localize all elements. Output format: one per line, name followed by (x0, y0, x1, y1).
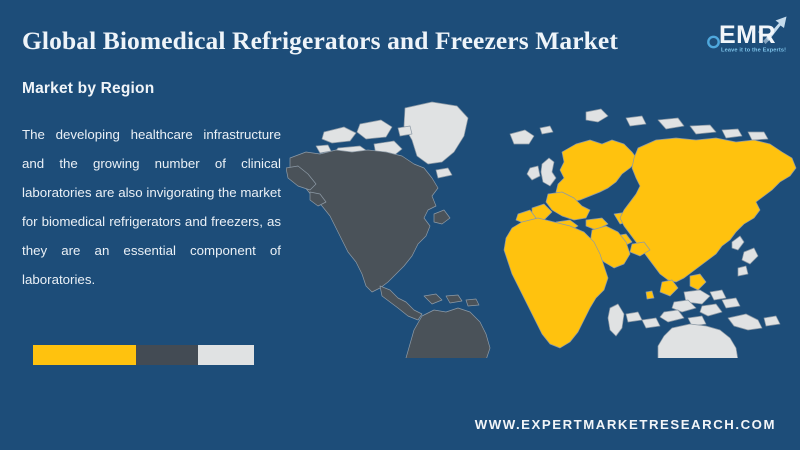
section-subtitle: Market by Region (22, 80, 154, 98)
region-asia (612, 138, 796, 296)
body-paragraph: The developing healthcare infrastructure… (22, 120, 281, 294)
legend-swatch-highlight (33, 345, 136, 365)
region-svalbard (586, 109, 768, 140)
region-madagascar (608, 304, 624, 336)
emr-logo[interactable]: EMR Leave it to the Experts! (706, 8, 792, 56)
region-europe (516, 140, 638, 232)
logo-circle-icon (708, 37, 718, 47)
slide-root: Global Biomedical Refrigerators and Free… (0, 0, 800, 450)
logo-tagline: Leave it to the Experts! (721, 48, 786, 54)
legend-swatch-light (198, 345, 254, 365)
region-sri-lanka (646, 291, 654, 299)
region-iceland (510, 126, 553, 144)
legend-swatch-dark (136, 345, 198, 365)
world-map (286, 96, 800, 358)
region-greenland (404, 102, 468, 164)
region-north-america (286, 150, 450, 292)
page-title: Global Biomedical Refrigerators and Free… (22, 26, 712, 56)
region-japan (732, 236, 758, 276)
footer-url[interactable]: WWW.EXPERTMARKETRESEARCH.COM (475, 417, 776, 432)
logo-wordmark: EMR (719, 21, 776, 49)
region-british-isles (527, 158, 556, 186)
region-australia (658, 324, 738, 358)
region-papua-new-guinea (728, 314, 780, 330)
region-southeast-asia-islands (626, 290, 740, 328)
legend (33, 345, 254, 365)
